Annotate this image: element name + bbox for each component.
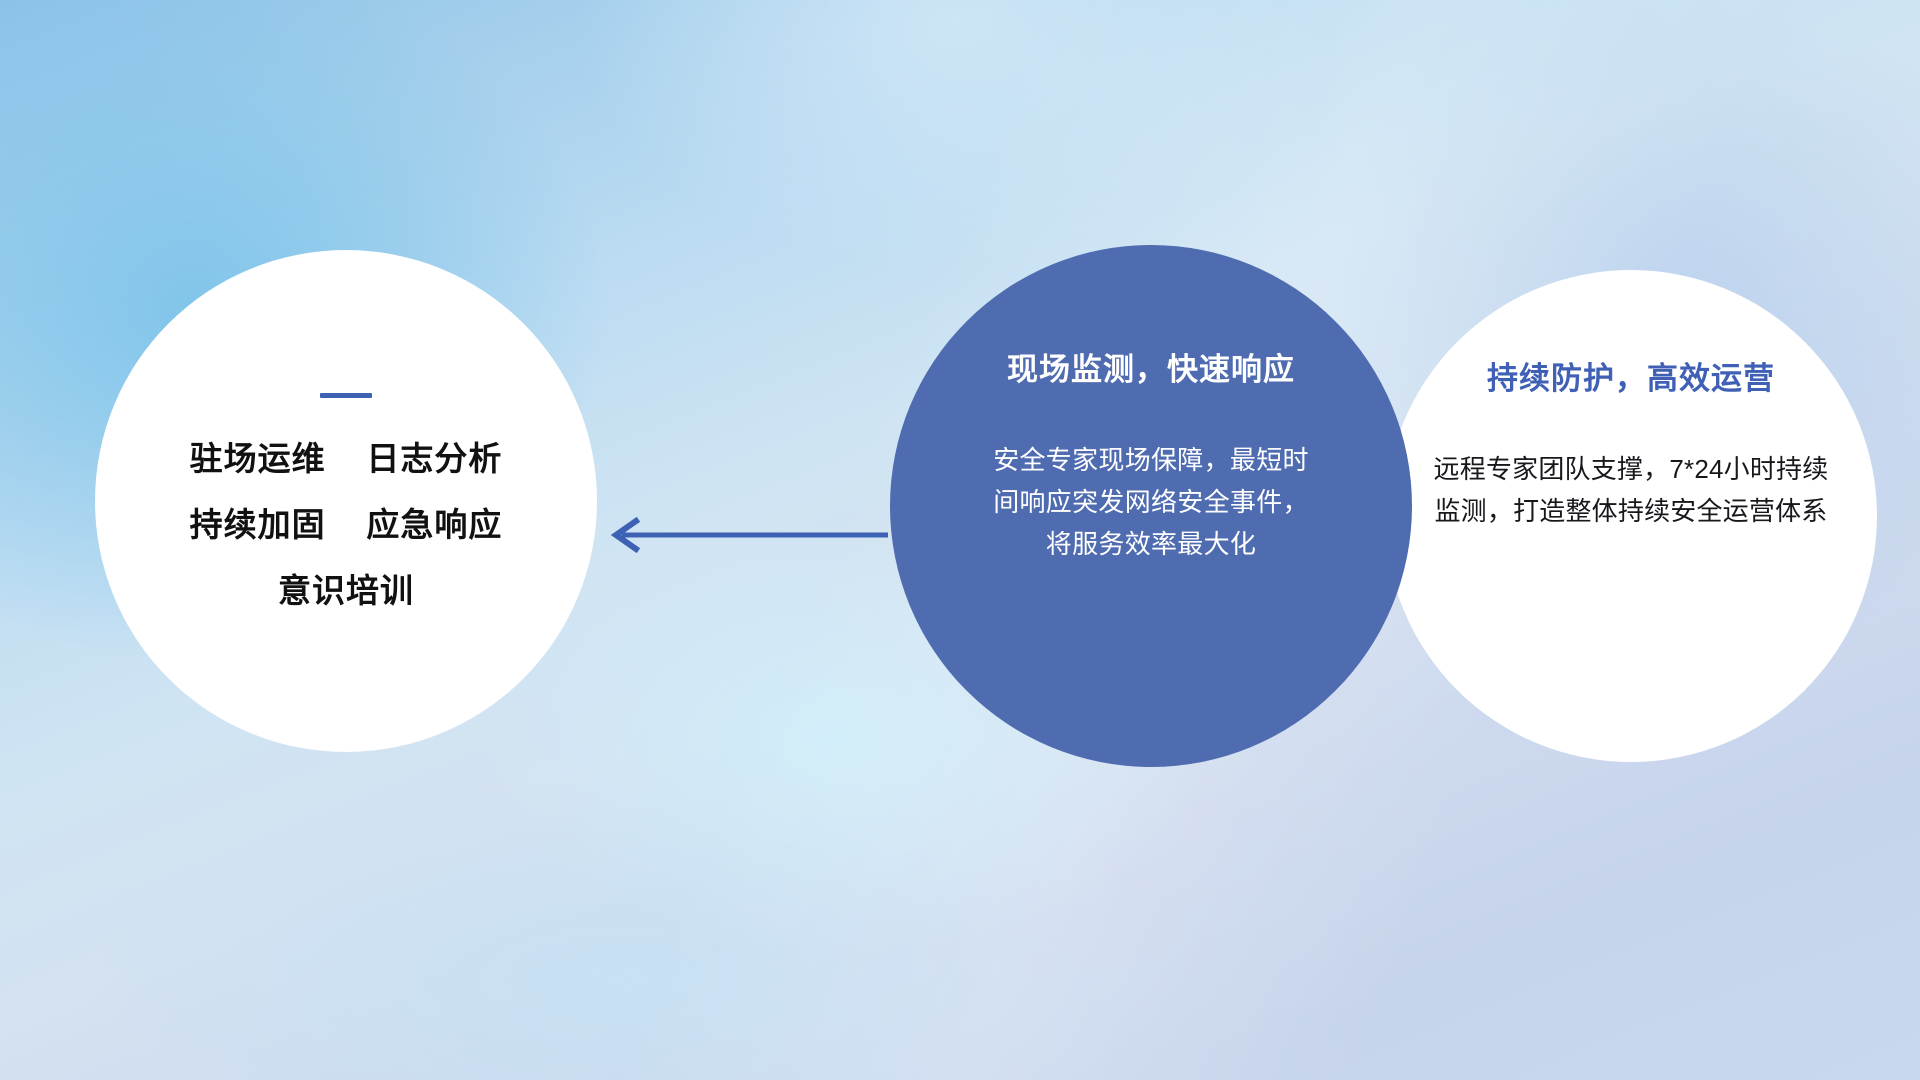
continuous-protection-circle: 持续防护，高效运营 远程专家团队支撑，7*24小时持续监测，打造整体持续安全运营… xyxy=(1385,270,1877,762)
onsite-monitoring-circle: 现场监测，快速响应 安全专家现场保障，最短时间响应突发网络安全事件，将服务效率最… xyxy=(890,245,1412,767)
capability-line-3: 意识培训 xyxy=(278,574,414,607)
capability-line-1: 驻场运维 日志分析 xyxy=(190,442,503,475)
onsite-monitoring-body: 安全专家现场保障，最短时间响应突发网络安全事件，将服务效率最大化 xyxy=(991,439,1311,565)
onsite-monitoring-title: 现场监测，快速响应 xyxy=(1007,353,1295,387)
arrow-left-icon xyxy=(600,505,890,565)
divider-dash xyxy=(320,393,372,398)
capability-line-2: 持续加固 应急响应 xyxy=(190,508,503,541)
capability-list: 驻场运维 日志分析 持续加固 应急响应 意识培训 xyxy=(190,442,503,607)
slide-canvas: 驻场运维 日志分析 持续加固 应急响应 意识培训 现场监测，快速响应 安全专家现… xyxy=(0,0,1920,1080)
continuous-protection-title: 持续防护，高效运营 xyxy=(1487,362,1775,396)
continuous-protection-body: 远程专家团队支撑，7*24小时持续监测，打造整体持续安全运营体系 xyxy=(1422,448,1840,532)
capability-circle-left: 驻场运维 日志分析 持续加固 应急响应 意识培训 xyxy=(95,250,597,752)
